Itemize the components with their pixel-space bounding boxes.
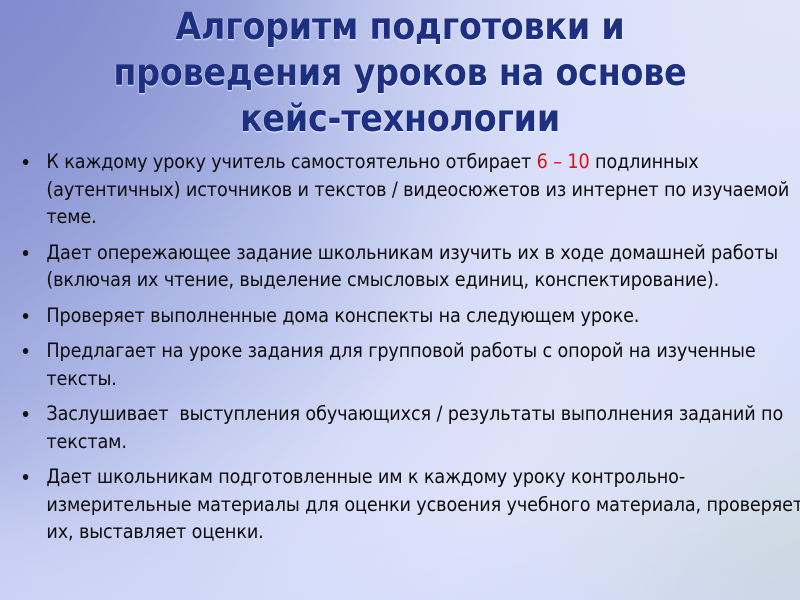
list-item-text: Проверяет выполненные дома конспекты на … bbox=[46, 302, 800, 330]
list-item-text: Дает школьникам подготовленные им к кажд… bbox=[46, 463, 800, 546]
list-item: Дает школьникам подготовленные им к кажд… bbox=[12, 463, 800, 546]
list-item-text: К каждому уроку учитель самостоятельно о… bbox=[46, 148, 800, 231]
bullet-list: К каждому уроку учитель самостоятельно о… bbox=[12, 148, 788, 546]
list-item: К каждому уроку учитель самостоятельно о… bbox=[12, 148, 800, 231]
dot-bullet-icon bbox=[23, 159, 28, 165]
list-item-text: Предлагает на уроке задания для группово… bbox=[46, 337, 800, 392]
presentation-slide: Алгоритм подготовки и проведения уроков … bbox=[0, 0, 800, 600]
list-item: Заслушивает выступления обучающихся / ре… bbox=[12, 400, 800, 455]
list-item-text: Дает опережающее задание школьникам изуч… bbox=[46, 239, 800, 294]
list-item-text: Заслушивает выступления обучающихся / ре… bbox=[46, 400, 800, 455]
slide-title-block: Алгоритм подготовки и проведения уроков … bbox=[40, 4, 760, 142]
dot-bullet-icon bbox=[23, 411, 28, 417]
dot-bullet-icon bbox=[23, 250, 28, 256]
list-item: Дает опережающее задание школьникам изуч… bbox=[12, 239, 800, 294]
slide-content: Алгоритм подготовки и проведения уроков … bbox=[0, 0, 800, 600]
list-item-text-before: К каждому уроку учитель самостоятельно о… bbox=[46, 150, 536, 173]
list-item: Проверяет выполненные дома конспекты на … bbox=[12, 302, 800, 330]
dot-bullet-icon bbox=[23, 313, 28, 319]
page-title: Алгоритм подготовки и проведения уроков … bbox=[76, 4, 724, 142]
list-item-accent-value: 6 – 10 bbox=[537, 150, 590, 173]
dot-bullet-icon bbox=[23, 474, 28, 480]
list-item: Предлагает на уроке задания для группово… bbox=[12, 337, 800, 392]
dot-bullet-icon bbox=[23, 348, 28, 354]
